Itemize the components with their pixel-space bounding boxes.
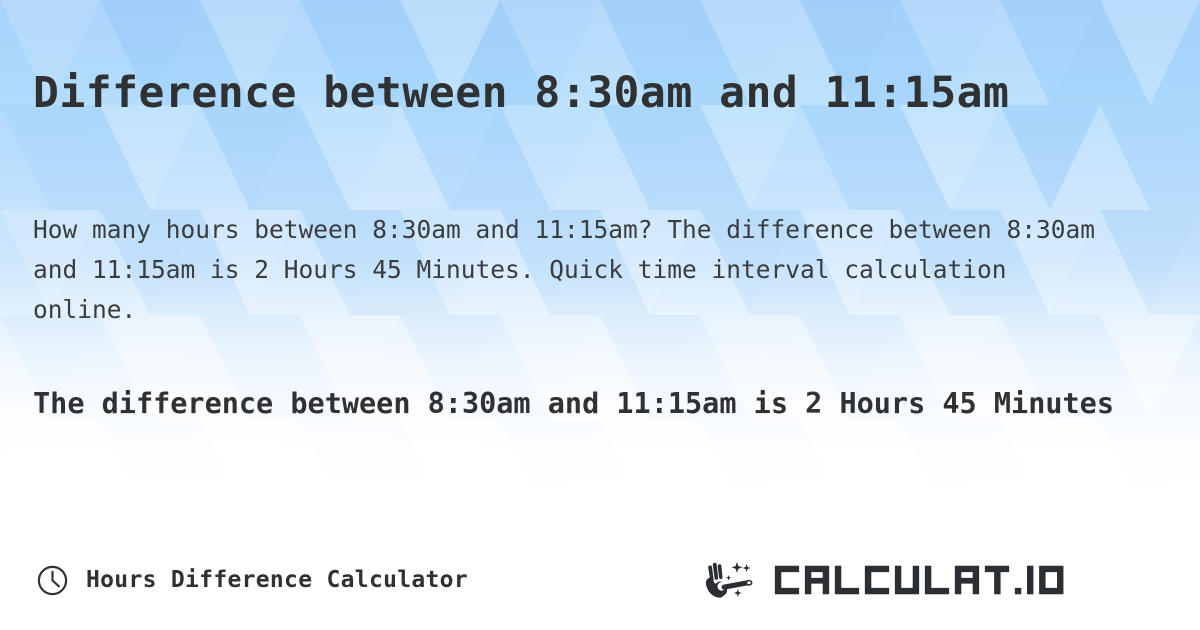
brand-wordmark — [772, 560, 1172, 600]
result-heading: The difference between 8:30am and 11:15a… — [33, 379, 1163, 429]
content-area: Difference between 8:30am and 11:15am Ho… — [0, 0, 1200, 630]
footer: Hours Difference Calculator — [0, 548, 1200, 612]
footer-tool-link[interactable]: Hours Difference Calculator — [36, 548, 468, 612]
footer-tool-label: Hours Difference Calculator — [86, 567, 468, 593]
hand-magic-wand-icon — [704, 558, 766, 602]
og-image-card: Difference between 8:30am and 11:15am Ho… — [0, 0, 1200, 630]
intro-paragraph: How many hours between 8:30am and 11:15a… — [33, 210, 1123, 330]
brand-logo[interactable] — [704, 548, 1172, 612]
clock-icon — [36, 564, 69, 597]
page-title: Difference between 8:30am and 11:15am — [33, 69, 1173, 118]
